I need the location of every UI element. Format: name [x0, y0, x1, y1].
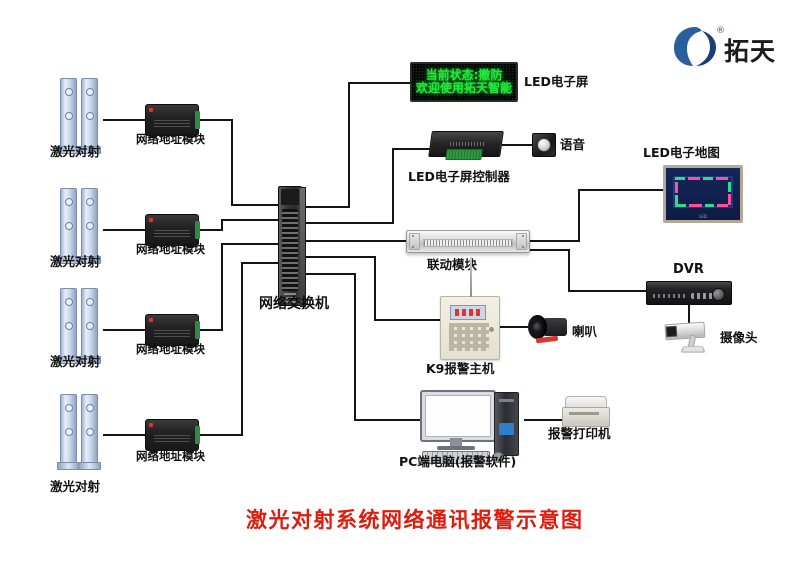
- alarm-printer-icon: [562, 396, 608, 426]
- link-module1-switch: [231, 204, 278, 206]
- link-module4-switch: [241, 262, 278, 264]
- link-module4-a: [197, 434, 243, 436]
- node-label-led-controller: LED电子屏控制器: [408, 170, 510, 184]
- laser-beam-post-pair-icon-4: [57, 388, 103, 466]
- linkage-module-rack-icon: [406, 230, 530, 253]
- node-label-addr-module-1: 网络地址模块: [136, 133, 205, 146]
- page-title: 激光对射系统网络通讯报警示意图: [246, 504, 584, 534]
- link-linkage-dvr-b: [568, 249, 570, 292]
- tuotian-swoosh-logo-icon: [672, 24, 718, 70]
- node-label-addr-module-3: 网络地址模块: [136, 343, 205, 356]
- node-label-printer: 报警打印机: [548, 427, 611, 441]
- link-switch-k9-b: [374, 256, 376, 321]
- led-screen-icon: 当前状态:撤防 欢迎使用拓天智能: [410, 62, 518, 102]
- link-switch-k9-a: [300, 256, 376, 258]
- link-linkage-map-b: [578, 189, 580, 242]
- node-label-laser-2: 激光对射: [50, 255, 100, 269]
- dvr-recorder-icon: [646, 281, 732, 305]
- led-electronic-map-icon: LED: [663, 165, 743, 223]
- node-label-laser-1: 激光对射: [50, 145, 100, 159]
- led-screen-line2: 欢迎使用拓天智能: [416, 82, 512, 95]
- brand-name: 拓天: [724, 32, 776, 68]
- link-switch-pc-c: [354, 419, 420, 421]
- link-switch-ledscreen-a: [300, 206, 350, 208]
- link-linkage-map-c: [578, 189, 663, 191]
- link-module4-b: [241, 262, 243, 436]
- link-switch-ledscreen-c: [348, 82, 410, 84]
- node-label-addr-module-4: 网络地址模块: [136, 450, 205, 463]
- link-module3-switch: [221, 243, 278, 245]
- link-module3-a: [197, 329, 223, 331]
- node-label-laser-3: 激光对射: [50, 355, 100, 369]
- link-switch-ledctl-a: [300, 222, 394, 224]
- led-screen-controller-icon: [430, 131, 502, 157]
- laser-beam-post-pair-icon-2: [57, 182, 103, 260]
- link-switch-ledctl-b: [392, 148, 394, 224]
- desktop-computer-icon: [420, 390, 528, 460]
- link-switch-k9-c: [374, 319, 440, 321]
- horn-speaker-icon: [528, 312, 572, 342]
- node-label-switch: 网络交换机: [259, 296, 329, 312]
- link-dvr-camera: [688, 303, 690, 323]
- network-switch-icon: [278, 186, 302, 306]
- link-ledctl-voice: [502, 144, 532, 146]
- diagram-canvas: ® 拓天: [0, 0, 800, 579]
- link-linkage-dvr-c: [568, 290, 646, 292]
- brand-logo: ® 拓天: [672, 24, 792, 74]
- link-linkage-dvr-a: [528, 249, 570, 251]
- link-laser2-module2: [103, 229, 145, 231]
- link-pc-printer: [524, 419, 562, 421]
- link-switch-ledctl-c: [392, 148, 430, 150]
- link-module2-a: [197, 229, 223, 231]
- node-label-dvr: DVR: [673, 263, 704, 278]
- link-laser3-module3: [103, 329, 145, 331]
- node-label-voice: 语音: [560, 138, 585, 152]
- node-label-led-screen: LED电子屏: [524, 75, 588, 89]
- node-label-horn: 喇叭: [572, 325, 597, 339]
- node-label-led-map: LED电子地图: [643, 146, 720, 160]
- link-module3-b: [221, 243, 223, 331]
- node-label-k9-alarm-host: K9报警主机: [426, 362, 494, 376]
- link-switch-linkage: [300, 240, 406, 242]
- bullet-camera-icon: [663, 321, 715, 355]
- alarm-host-panel-icon: [440, 296, 500, 360]
- network-address-module-icon-4: [145, 419, 199, 451]
- node-label-addr-module-2: 网络地址模块: [136, 243, 205, 256]
- link-laser4-module4: [103, 434, 145, 436]
- link-module2-switch: [221, 219, 278, 221]
- laser-beam-post-pair-icon-3: [57, 282, 103, 360]
- link-switch-ledscreen-b: [348, 82, 350, 208]
- link-laser1-module1: [103, 119, 145, 121]
- node-label-pc: PC端电脑(报警软件): [399, 455, 516, 469]
- link-module1-a: [197, 119, 233, 121]
- link-switch-pc-b: [354, 273, 356, 421]
- node-label-camera: 摄像头: [720, 331, 758, 345]
- link-module1-b: [231, 119, 233, 205]
- link-linkage-map-a: [528, 240, 580, 242]
- link-k9-horn: [498, 326, 528, 328]
- voice-speaker-cube-icon: [532, 133, 556, 157]
- node-label-laser-4: 激光对射: [50, 480, 100, 494]
- laser-beam-post-pair-icon-1: [57, 72, 103, 150]
- link-switch-pc-a: [300, 273, 356, 275]
